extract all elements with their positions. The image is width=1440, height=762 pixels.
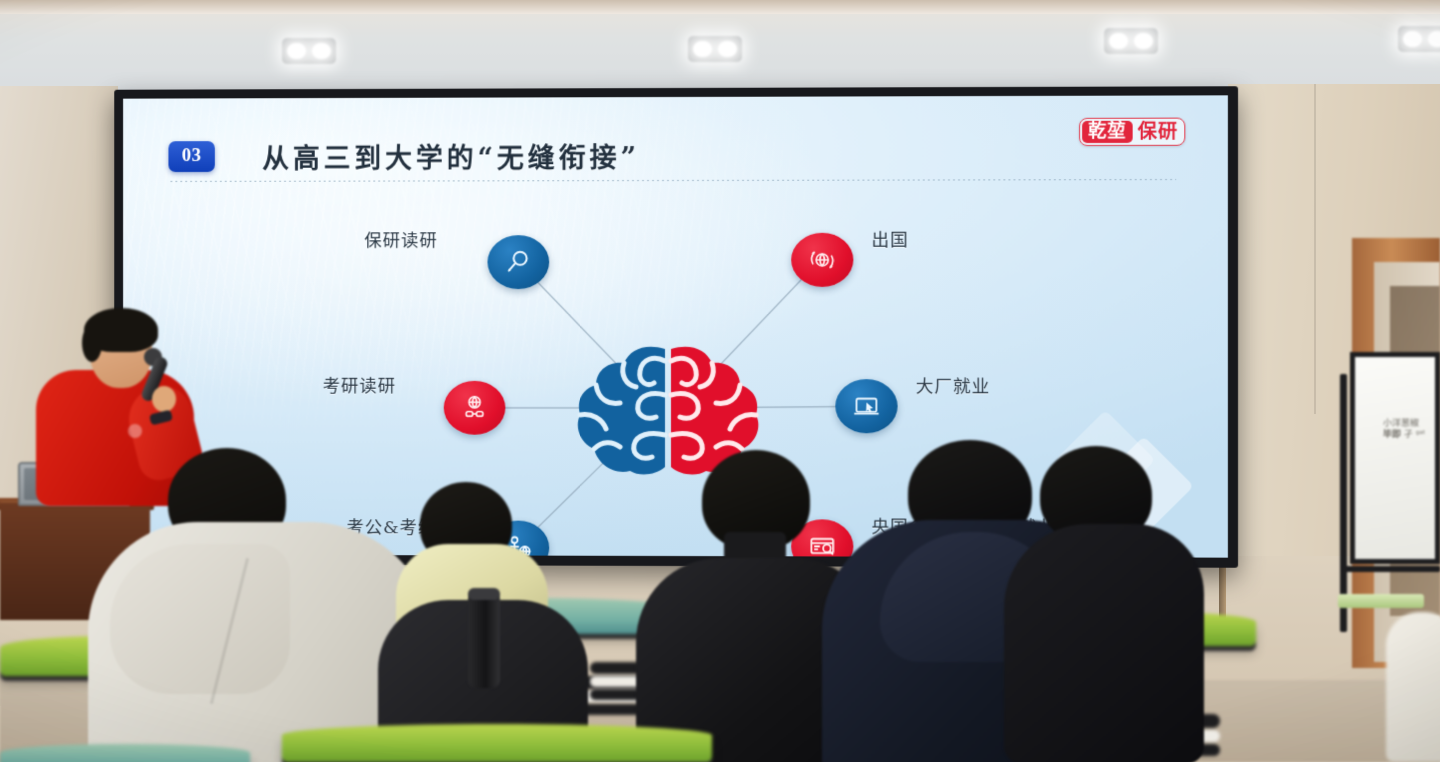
classroom-desk: [282, 724, 712, 762]
node-label-right-1: 大厂就业: [916, 373, 991, 398]
ceiling-spotlight: [282, 38, 336, 64]
attendee-jacket: [1386, 612, 1440, 762]
wall-seam: [1314, 84, 1316, 414]
brand-logo-word: 保研: [1138, 122, 1179, 141]
node-icon-network-globe: [444, 381, 506, 435]
brand-logo: 乾堃 保研: [1079, 118, 1185, 146]
flipchart-shelf: [1338, 594, 1424, 608]
presenter-hair-side: [82, 324, 102, 362]
thermos-cap: [468, 588, 500, 600]
jacket-hood: [110, 544, 290, 694]
laptop-cursor-icon: [851, 391, 881, 421]
classroom-desk: [0, 744, 250, 762]
slide-title: 从高三到大学的“无缝衔接”: [262, 136, 640, 176]
whiteboard-surface: 小洋葱椒毕即 孑 ᵍᵃᵗ: [1350, 352, 1440, 564]
ceiling-spotlight: [1398, 26, 1440, 52]
flipchart-whiteboard: 小洋葱椒毕即 孑 ᵍᵃᵗ: [1338, 352, 1440, 632]
presenter-hand: [152, 386, 176, 412]
globe-arrows-icon: [807, 245, 837, 275]
whiteboard-handwriting: 小洋葱椒毕即 孑 ᵍᵃᵗ: [1383, 419, 1426, 441]
node-label-left-0: 保研读研: [364, 227, 437, 252]
laptop-search-icon: [807, 531, 837, 557]
node-icon-globe-arrows: [791, 233, 853, 287]
flipchart-leg: [1340, 566, 1440, 572]
node-icon-laptop-cursor: [835, 379, 897, 433]
ceiling-spotlight: [1104, 28, 1158, 54]
network-globe-icon: [460, 393, 490, 423]
node-icon-magnifier: [487, 235, 549, 289]
node-label-left-1: 考研读研: [323, 373, 396, 398]
thermos-bottle: [468, 592, 500, 688]
slide-header: 03 从高三到大学的“无缝衔接”: [168, 126, 1187, 184]
brand-logo-badge: 乾堃: [1082, 121, 1133, 143]
ceiling-spotlight: [688, 36, 742, 62]
ceiling-edge: [0, 0, 1440, 14]
section-number-badge: 03: [168, 141, 214, 172]
attendee-jacket: [1004, 524, 1204, 762]
sweater-emblem: [128, 424, 142, 438]
node-label-right-0: 出国: [871, 227, 908, 252]
magnifier-icon: [503, 247, 533, 277]
classroom-scene: 03 从高三到大学的“无缝衔接” 乾堃 保研: [0, 0, 1440, 762]
